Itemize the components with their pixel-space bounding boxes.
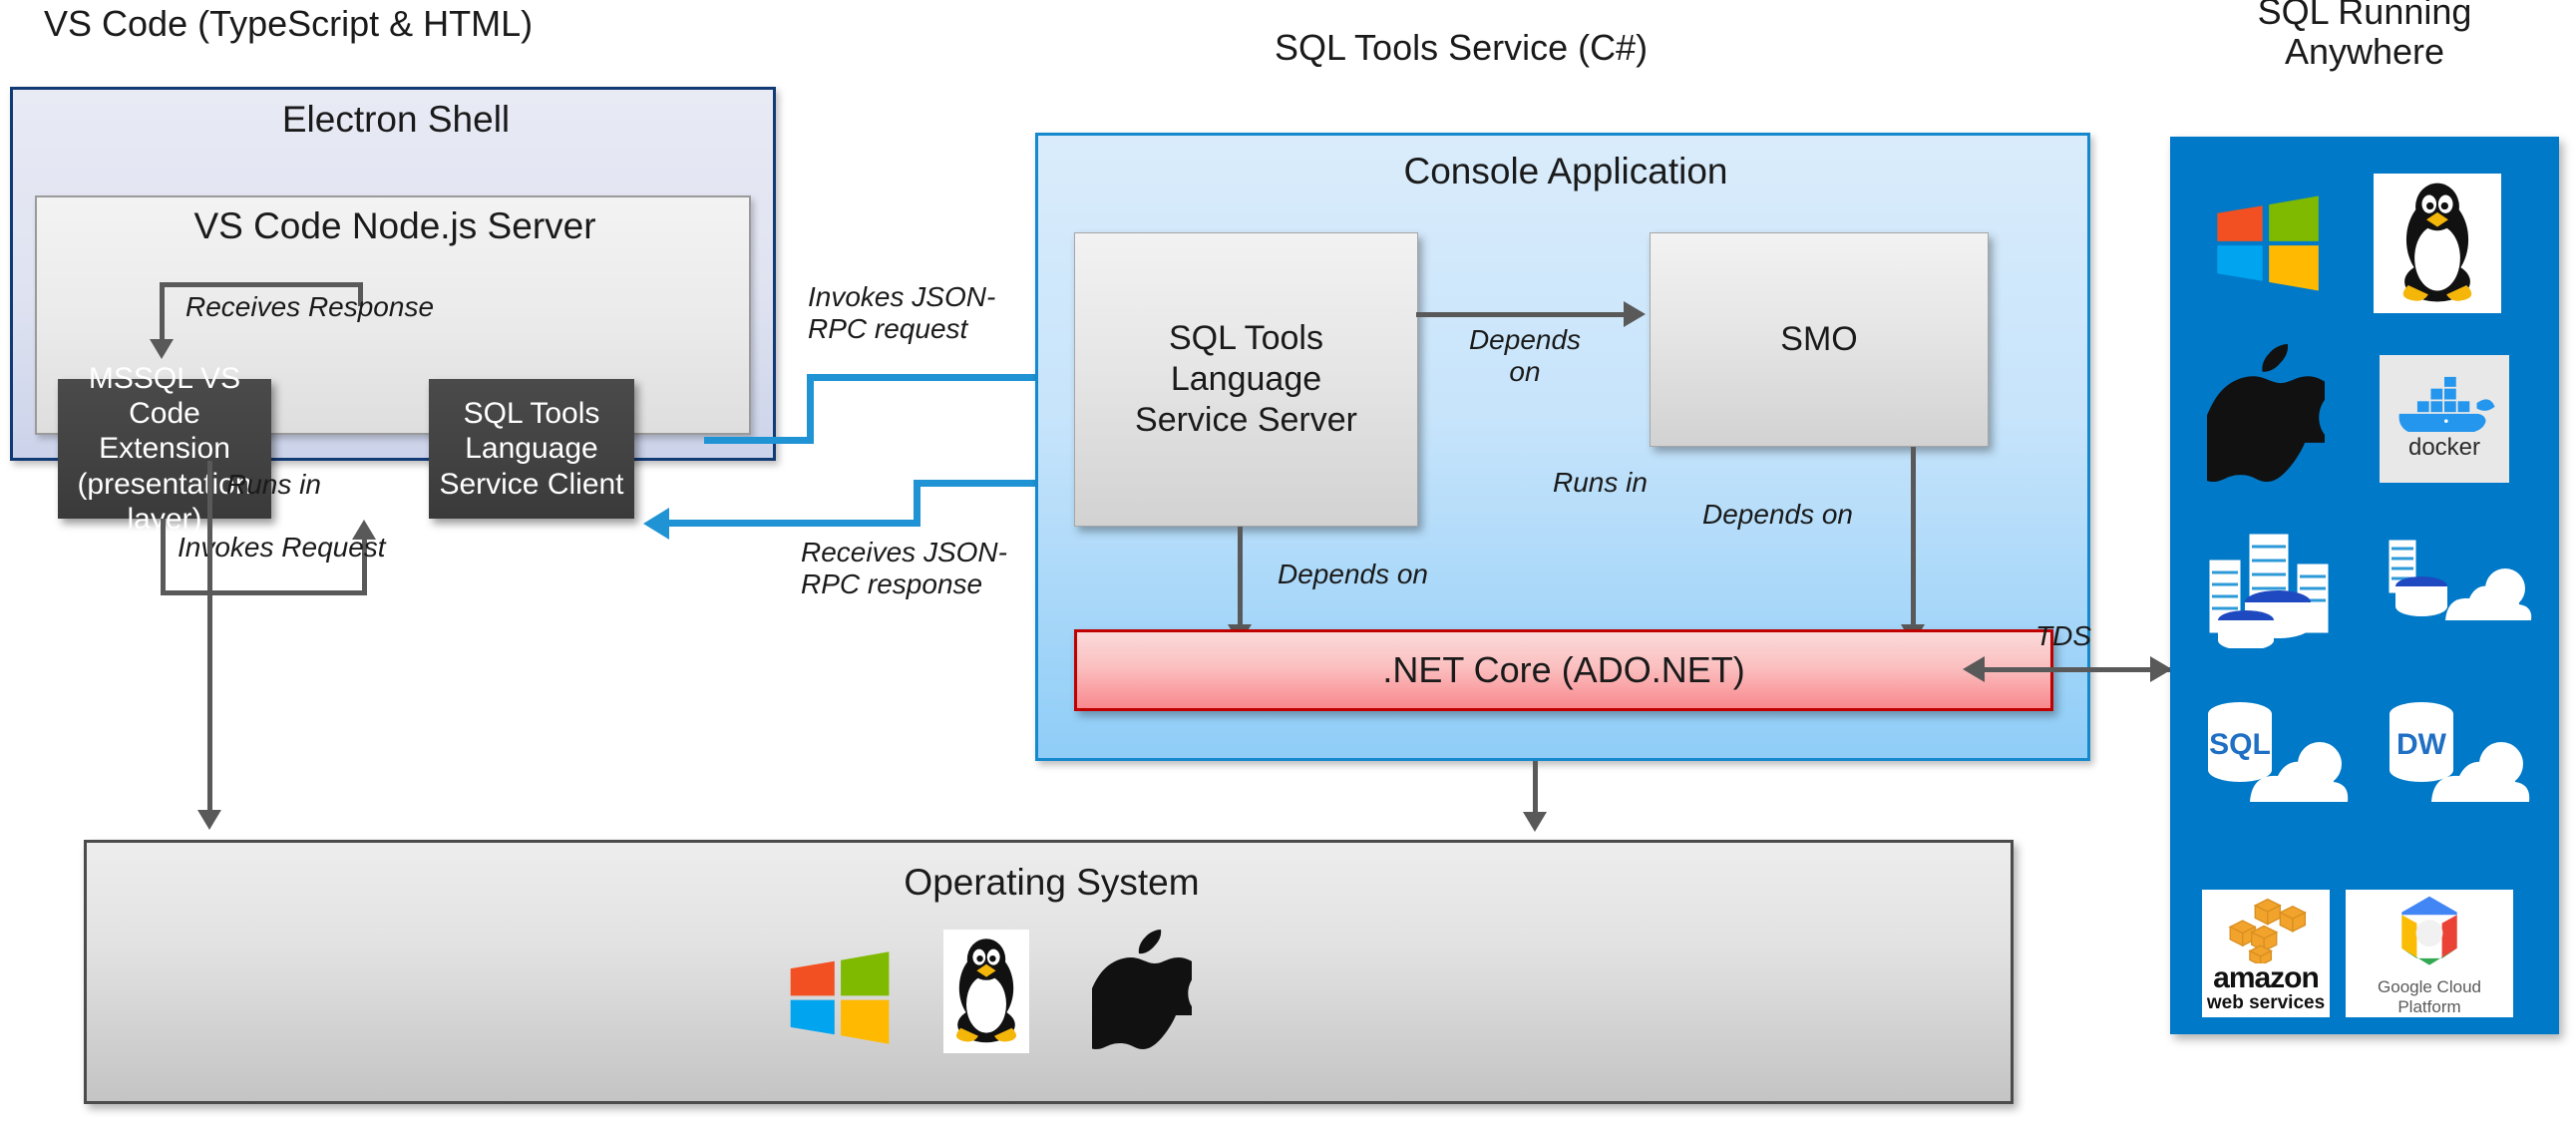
jsonrpc-request-edge-seg3 <box>807 374 1046 381</box>
runs-in-right-label: Runs in <box>1553 467 1648 499</box>
caption-sql-running-anywhere: SQL Running Anywhere <box>2170 0 2559 64</box>
google-cloud-platform-label: Google Cloud Platform <box>2346 977 2513 1017</box>
jsonrpc-request-label: Invokes JSON- RPC request <box>808 281 995 345</box>
hybrid-cloud-database-icon <box>2374 527 2533 646</box>
depends-on-dotnet-right-label: Depends on <box>1702 499 1853 531</box>
svg-text:DW: DW <box>2396 728 2447 761</box>
receives-response-edge-left <box>160 282 165 341</box>
sql-tools-language-service-server-node[interactable]: SQL Tools Language Service Server <box>1074 232 1418 527</box>
smo-node[interactable]: SMO <box>1650 232 1989 447</box>
depends-on-dotnet-left-edge <box>1238 527 1243 629</box>
depends-on-dotnet-left-label: Depends on <box>1278 559 1428 590</box>
aws-logo-icon: amazon web services <box>2202 890 2330 1017</box>
receives-response-arrowhead <box>150 339 174 359</box>
cloud-windows-logo-icon <box>2212 189 2322 297</box>
caption-vscode: VS Code (TypeScript & HTML) <box>44 4 533 44</box>
tds-label: TDS <box>2035 620 2091 652</box>
sql-tools-language-service-client-node[interactable]: SQL Tools Language Service Client <box>429 379 634 519</box>
cloud-linux-tux-logo-icon <box>2374 174 2501 313</box>
on-premises-database-icon <box>2200 519 2350 648</box>
runs-in-right-arrowhead <box>1523 812 1547 832</box>
depends-on-smo-arrowhead <box>1624 301 1646 327</box>
electron-shell-title: Electron Shell <box>13 98 779 142</box>
depends-on-smo-label: Depends on <box>1430 324 1620 388</box>
depends-on-dotnet-right-edge <box>1911 447 1916 629</box>
receives-response-edge-top <box>160 282 363 287</box>
operating-system-container: Operating System <box>84 840 2014 1104</box>
jsonrpc-request-edge-seg1 <box>704 437 814 444</box>
tds-edge <box>1985 667 2170 672</box>
runs-in-right-edge <box>1533 761 1538 817</box>
azure-sql-datawarehouse-icon: DW <box>2376 698 2535 818</box>
tds-arrowhead-right <box>2150 656 2172 682</box>
aws-logo-label-secondary: web services <box>2207 993 2325 1012</box>
jsonrpc-response-edge-seg3 <box>666 520 920 527</box>
windows-logo-icon <box>785 945 893 1050</box>
cloud-apple-logo-icon <box>2206 343 2326 483</box>
jsonrpc-request-edge-seg2 <box>807 374 814 444</box>
linux-tux-logo-icon <box>943 930 1029 1053</box>
tds-arrowhead-left <box>1963 656 1985 682</box>
invokes-request-edge-bottom <box>161 590 367 595</box>
nodejs-server-title: VS Code Node.js Server <box>37 203 753 249</box>
receives-response-label: Receives Response <box>185 291 434 323</box>
docker-logo-label: docker <box>2408 434 2480 462</box>
runs-in-left-label: Runs in <box>226 469 321 501</box>
runs-in-left-edge <box>207 461 212 815</box>
google-cloud-platform-logo-icon: Google Cloud Platform <box>2346 890 2513 1017</box>
operating-system-title: Operating System <box>87 859 2017 907</box>
jsonrpc-response-edge-seg1 <box>914 480 1048 487</box>
aws-logo-label-primary: amazon <box>2213 963 2319 993</box>
runs-in-left-arrowhead <box>197 810 221 830</box>
jsonrpc-response-arrowhead <box>643 508 669 540</box>
docker-logo-icon: docker <box>2380 355 2509 483</box>
invokes-request-edge-left <box>161 519 166 595</box>
caption-sql-tools-service: SQL Tools Service (C#) <box>1275 28 1648 68</box>
svg-text:SQL: SQL <box>2209 728 2271 761</box>
apple-logo-icon <box>1090 928 1194 1051</box>
console-application-title: Console Application <box>1038 148 2093 195</box>
depends-on-smo-edge <box>1416 312 1628 317</box>
azure-sql-database-icon: SQL <box>2194 698 2354 818</box>
jsonrpc-response-label: Receives JSON- RPC response <box>801 537 1007 600</box>
dotnet-core-node[interactable]: .NET Core (ADO.NET) <box>1074 629 2053 711</box>
